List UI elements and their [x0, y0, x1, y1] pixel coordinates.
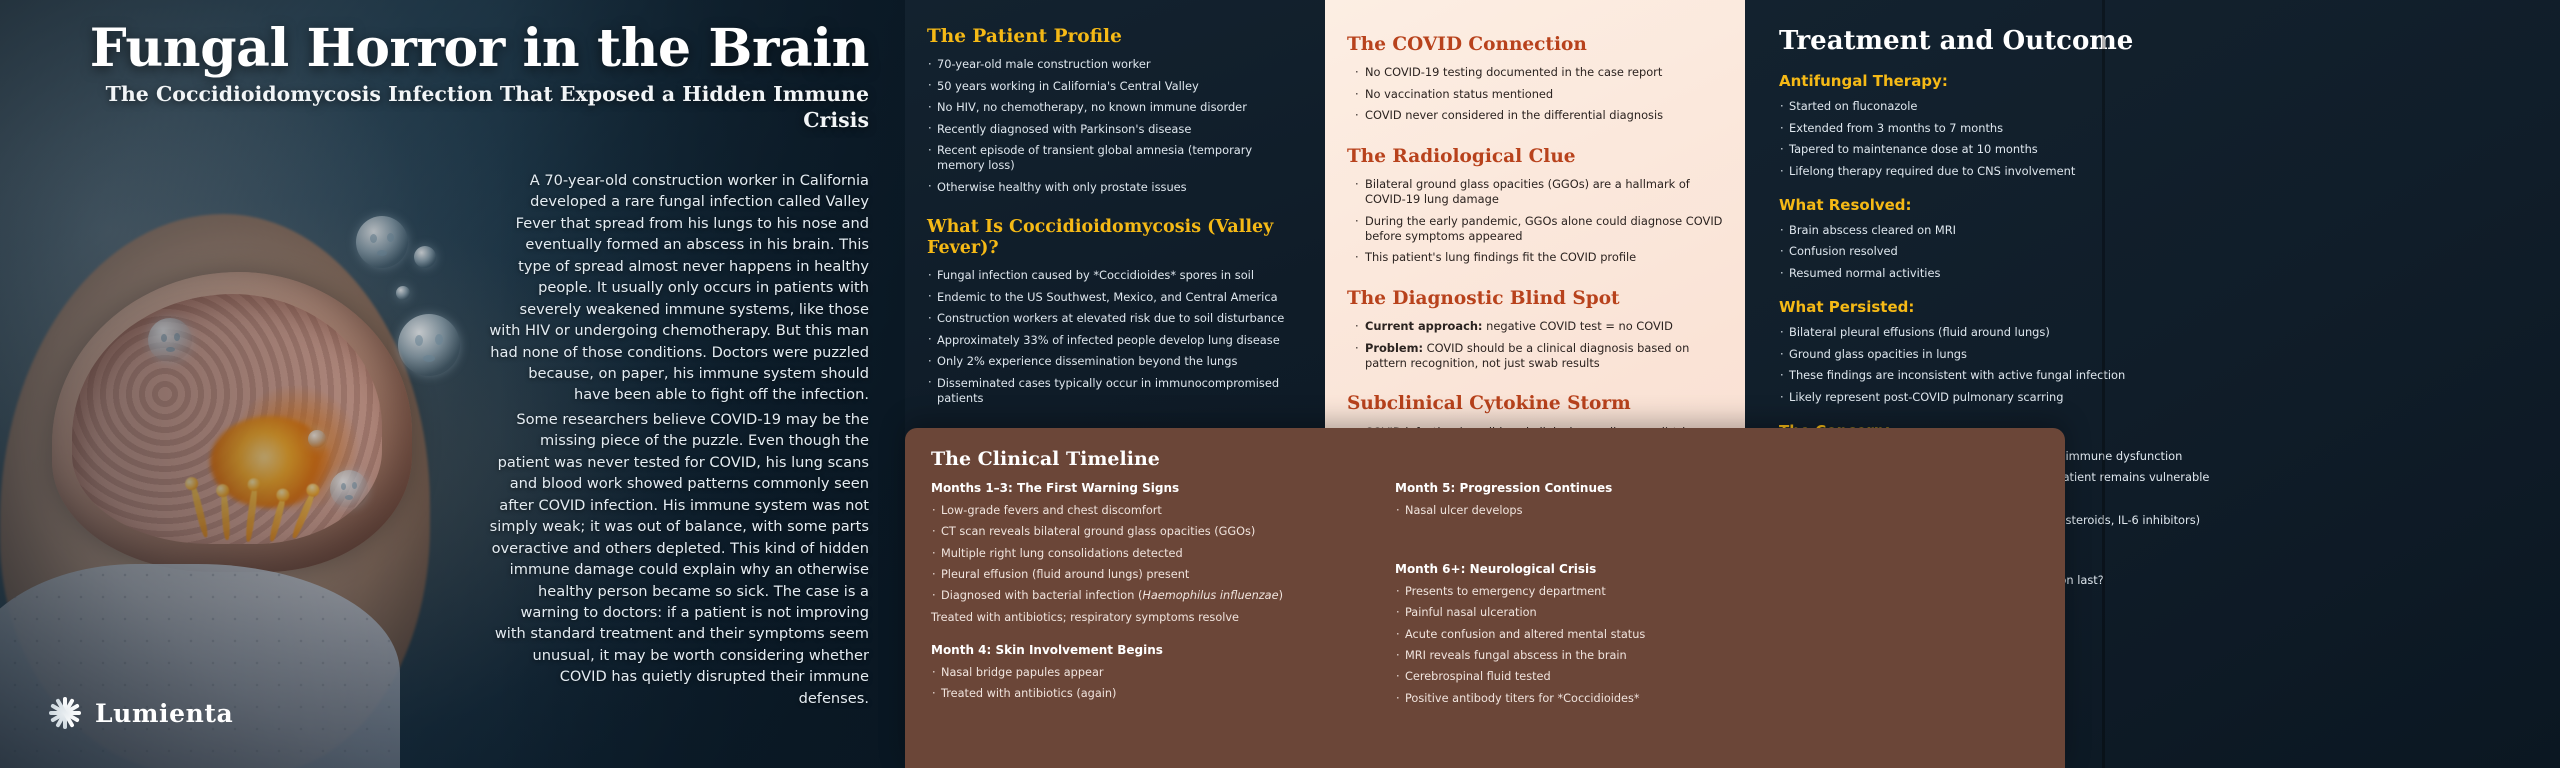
list-item: Extended from 3 months to 7 months	[1779, 121, 2526, 136]
list-item: Nasal ulcer develops	[1395, 503, 1825, 518]
list-item: Diagnosed with bacterial infection (Haem…	[931, 588, 1361, 603]
spore-icon	[330, 470, 368, 508]
list-item: Treated with antibiotics (again)	[931, 686, 1361, 701]
patient-profile-list: 70-year-old male construction worker50 y…	[927, 57, 1303, 195]
patient-profile-heading: The Patient Profile	[927, 26, 1303, 48]
list-item: Presents to emergency department	[1395, 584, 1825, 599]
what-persisted-list: Bilateral pleural effusions (fluid aroun…	[1779, 325, 2526, 405]
list-item-label: Problem:	[1365, 341, 1423, 355]
list-item: Nasal bridge papules appear	[931, 665, 1361, 680]
spore-icon	[396, 286, 410, 300]
list-item: Tapered to maintenance dose at 10 months	[1779, 142, 2526, 157]
covid-connection-list: No COVID-19 testing documented in the ca…	[1347, 65, 1723, 123]
list-item: 70-year-old male construction worker	[927, 57, 1303, 72]
list-item: Current approach: negative COVID test = …	[1355, 319, 1723, 334]
brand-name: Lumienta	[95, 699, 233, 728]
timeline-phase2-list: Nasal bridge papules appearTreated with …	[931, 665, 1361, 701]
spore-icon	[356, 216, 408, 268]
what-resolved-heading: What Resolved:	[1779, 196, 2526, 214]
panel-divider	[2102, 0, 2105, 768]
brand-logo-lockup: Lumienta	[48, 696, 233, 730]
what-is-coccidioidomycosis-list: Fungal infection caused by *Coccidioides…	[927, 268, 1303, 406]
list-item: Construction workers at elevated risk du…	[927, 311, 1303, 326]
list-item: No COVID-19 testing documented in the ca…	[1355, 65, 1723, 80]
list-item: Cerebrospinal fluid tested	[1395, 669, 1825, 684]
page-title: Fungal Horror in the Brain	[36, 22, 869, 76]
clinical-timeline-heading: The Clinical Timeline	[931, 448, 2039, 470]
diagnostic-blind-spot-heading: The Diagnostic Blind Spot	[1347, 288, 1723, 310]
list-item: Only 2% experience dissemination beyond …	[927, 354, 1303, 369]
what-persisted-heading: What Persisted:	[1779, 298, 2526, 316]
clinical-timeline-card: The Clinical Timeline Months 1–3: The Fi…	[905, 428, 2065, 768]
timeline-phase3-list: Nasal ulcer develops	[1395, 503, 1825, 518]
list-item: Multiple right lung consolidations detec…	[931, 546, 1361, 561]
infographic-board: Fungal Horror in the Brain The Coccidioi…	[0, 0, 2560, 768]
timeline-column-left: Months 1–3: The First Warning Signs Low-…	[931, 481, 1361, 712]
timeline-phase3-heading: Month 5: Progression Continues	[1395, 481, 1825, 495]
page-subtitle: The Coccidioidomycosis Infection That Ex…	[36, 82, 869, 133]
list-item: These findings are inconsistent with act…	[1779, 368, 2526, 383]
list-item: Fungal infection caused by *Coccidioides…	[927, 268, 1303, 283]
list-item: Brain abscess cleared on MRI	[1779, 223, 2526, 238]
list-item: Bilateral ground glass opacities (GGOs) …	[1355, 177, 1723, 207]
list-item: CT scan reveals bilateral ground glass o…	[931, 524, 1361, 539]
list-item: No vaccination status mentioned	[1355, 87, 1723, 102]
spore-icon	[308, 430, 326, 448]
list-item-label: Current approach:	[1365, 319, 1483, 333]
list-item: This patient's lung findings fit the COV…	[1355, 250, 1723, 265]
hero-heading-block: Fungal Horror in the Brain The Coccidioi…	[0, 22, 905, 133]
list-item: Ground glass opacities in lungs	[1779, 347, 2526, 362]
list-item: Problem: COVID should be a clinical diag…	[1355, 341, 1723, 371]
antifungal-therapy-heading: Antifungal Therapy:	[1779, 72, 2526, 90]
timeline-phase4-list: Presents to emergency departmentPainful …	[1395, 584, 1825, 706]
list-item: Acute confusion and altered mental statu…	[1395, 627, 1825, 642]
list-item: Confusion resolved	[1779, 244, 2526, 259]
list-item: Painful nasal ulceration	[1395, 605, 1825, 620]
list-item: Recent episode of transient global amnes…	[927, 143, 1303, 174]
list-item: Started on fluconazole	[1779, 99, 2526, 114]
list-item: Bilateral pleural effusions (fluid aroun…	[1779, 325, 2526, 340]
timeline-phase2-heading: Month 4: Skin Involvement Begins	[931, 643, 1361, 657]
timeline-phase1-note: Treated with antibiotics; respiratory sy…	[931, 610, 1361, 625]
timeline-phase1-heading: Months 1–3: The First Warning Signs	[931, 481, 1361, 495]
spore-icon	[398, 314, 460, 376]
radiological-clue-list: Bilateral ground glass opacities (GGOs) …	[1347, 177, 1723, 266]
covid-connection-heading: The COVID Connection	[1347, 34, 1723, 56]
hero-paragraph-1: A 70-year-old construction worker in Cal…	[489, 170, 869, 406]
treatment-outcome-title: Treatment and Outcome	[1779, 26, 2526, 56]
what-is-coccidioidomycosis-heading: What Is Coccidioidomycosis (Valley Fever…	[927, 217, 1303, 259]
diagnostic-blind-spot-list: Current approach: negative COVID test = …	[1347, 319, 1723, 371]
radiological-clue-heading: The Radiological Clue	[1347, 146, 1723, 168]
asterisk-flower-logo-icon	[48, 696, 82, 730]
list-item: Recently diagnosed with Parkinson's dise…	[927, 122, 1303, 137]
hero-panel: Fungal Horror in the Brain The Coccidioi…	[0, 0, 905, 768]
list-item: Positive antibody titers for *Coccidioid…	[1395, 691, 1825, 706]
list-item: COVID never considered in the differenti…	[1355, 108, 1723, 123]
hero-paragraph-2: Some researchers believe COVID-19 may be…	[489, 409, 869, 709]
list-item: No HIV, no chemotherapy, no known immune…	[927, 100, 1303, 115]
list-item: Otherwise healthy with only prostate iss…	[927, 180, 1303, 195]
spore-icon	[414, 246, 436, 268]
spore-icon	[148, 318, 192, 362]
timeline-phase4-heading: Month 6+: Neurological Crisis	[1395, 562, 1825, 576]
list-item: Lifelong therapy required due to CNS inv…	[1779, 164, 2526, 179]
list-item: Likely represent post-COVID pulmonary sc…	[1779, 390, 2526, 405]
subclinical-cytokine-storm-heading: Subclinical Cytokine Storm	[1347, 393, 1723, 415]
antifungal-therapy-list: Started on fluconazoleExtended from 3 mo…	[1779, 99, 2526, 179]
list-item: MRI reveals fungal abscess in the brain	[1395, 648, 1825, 663]
what-resolved-list: Brain abscess cleared on MRIConfusion re…	[1779, 223, 2526, 281]
brain-abscess-illustration	[0, 154, 520, 768]
timeline-column-right: Month 5: Progression Continues Nasal ulc…	[1395, 481, 1825, 712]
list-item: Resumed normal activities	[1779, 266, 2526, 281]
list-item: Low-grade fevers and chest discomfort	[931, 503, 1361, 518]
timeline-phase1-list: Low-grade fevers and chest discomfortCT …	[931, 503, 1361, 603]
list-item: Approximately 33% of infected people dev…	[927, 333, 1303, 348]
list-item: Disseminated cases typically occur in im…	[927, 376, 1303, 407]
list-item: Endemic to the US Southwest, Mexico, and…	[927, 290, 1303, 305]
list-item: 50 years working in California's Central…	[927, 79, 1303, 94]
list-item: Pleural effusion (fluid around lungs) pr…	[931, 567, 1361, 582]
list-item: During the early pandemic, GGOs alone co…	[1355, 214, 1723, 244]
